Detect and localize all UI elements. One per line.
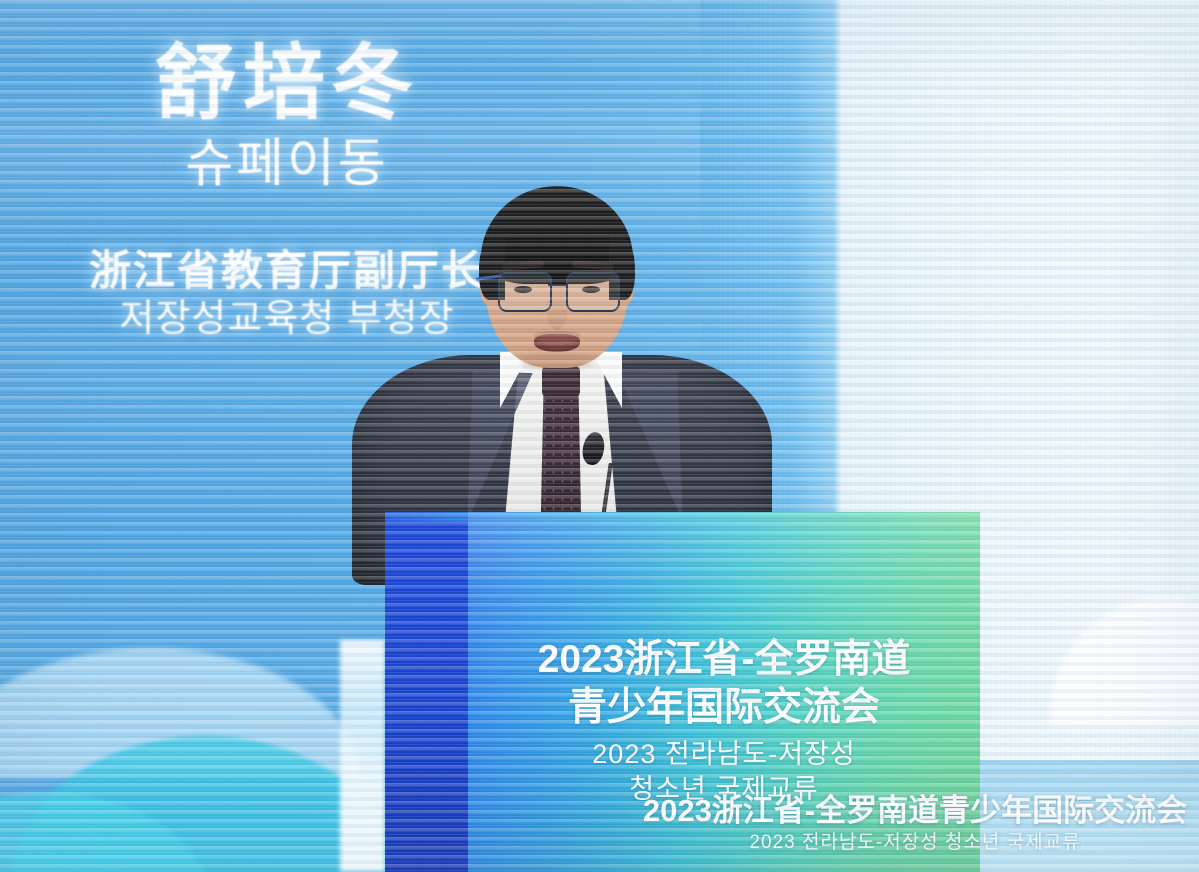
jacket-lapel-right [617, 371, 682, 523]
podium-side-panel [385, 518, 468, 872]
watermark-title-chinese: 2023浙江省-全罗南道青少年国际交流会 [639, 793, 1191, 830]
photo-scene: 舒培冬 슈페이동 浙江省教育厅副厅长 저장성교육청 부청장 [0, 0, 1199, 872]
mouth-open [534, 334, 580, 352]
eyeglasses-lens-right [566, 272, 620, 312]
podium-title-line-1: 2023浙江省-全罗南道 [468, 636, 980, 684]
nose [547, 296, 567, 330]
eyeglasses-lens-left [498, 272, 552, 312]
shirt-collar-right [592, 352, 622, 408]
event-watermark-banner: 2023浙江省-全罗南道青少年国际交流会 2023 전라남도-저장성 청소년 국… [639, 793, 1191, 856]
necktie-knot [542, 366, 580, 400]
podium-title-line-2: 青少年国际交流会 [468, 684, 980, 732]
podium-event-signage: 2023浙江省-全罗南道 青少年国际交流会 2023 전라남도-저장성 청소년 … [468, 636, 980, 807]
podium-top-edge [385, 512, 980, 522]
watermark-title-korean: 2023 전라남도-저장성 청소년 국제교류 [639, 831, 1191, 856]
eyeglasses-bridge [548, 284, 566, 286]
chin-shadow [520, 352, 594, 370]
podium-subtitle-line-1: 2023 전라남도-저장성 [468, 737, 980, 772]
